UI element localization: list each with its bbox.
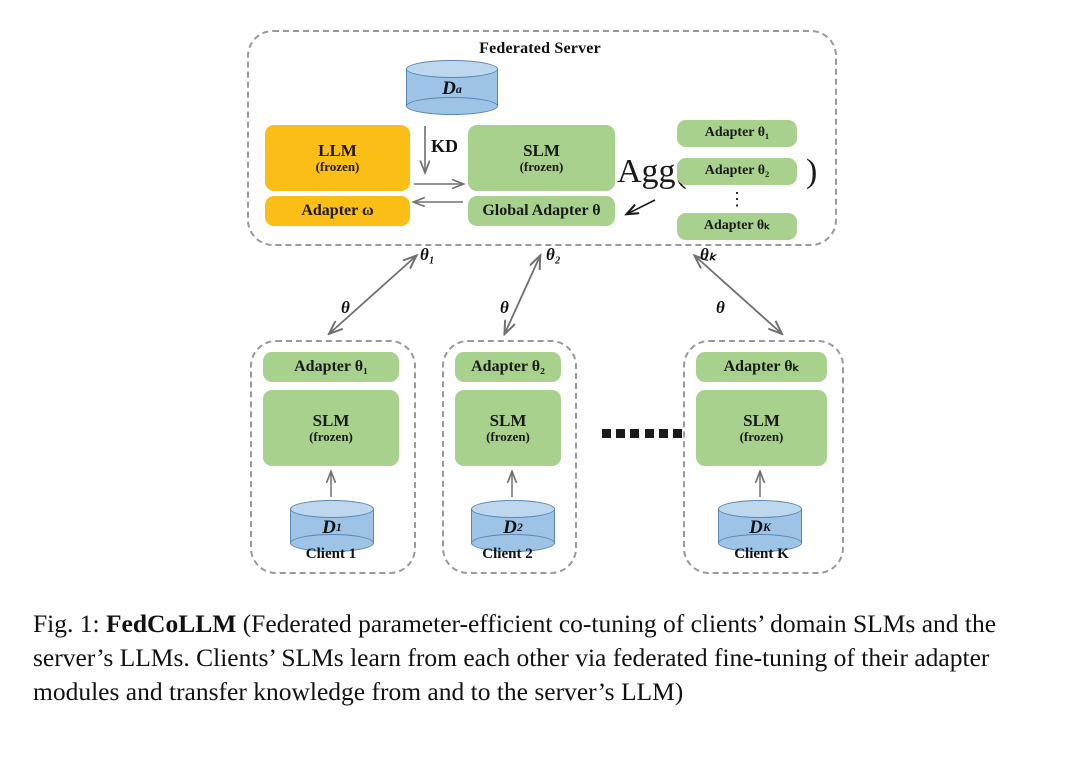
server-clientk-arrow xyxy=(695,256,781,333)
client-2-slm-subtitle: (frozen) xyxy=(486,430,530,445)
server-client2-arrow xyxy=(505,256,540,333)
server-llm-title: LLM xyxy=(316,141,360,161)
caption-prefix: Fig. 1: xyxy=(33,609,106,638)
server-dataset-cylinder: D a xyxy=(406,60,498,115)
server-slm-block[interactable]: SLM (frozen) xyxy=(468,125,615,191)
ellipsis-dot xyxy=(673,429,682,438)
client-k-slm-title: SLM xyxy=(740,411,784,431)
server-slm-title: SLM xyxy=(520,141,564,161)
download-label-theta-client1: θ xyxy=(341,298,350,318)
client-k-slm-subtitle: (frozen) xyxy=(740,430,784,445)
upload-label-theta2: θ₂ xyxy=(546,245,561,265)
server-client1-arrow xyxy=(330,256,416,333)
upload-label-theta1: θ₁ xyxy=(420,245,435,265)
download-label-theta-client2: θ xyxy=(500,298,509,318)
server-dataset-superscript: a xyxy=(456,82,462,97)
clients-ellipsis xyxy=(602,425,682,441)
server-global-adapter-block[interactable]: Global Adapter θ xyxy=(468,196,615,226)
ellipsis-dot xyxy=(630,429,639,438)
upload-label-thetak: θₖ xyxy=(700,245,716,265)
client-k-slm-block[interactable]: SLM (frozen) xyxy=(696,390,827,466)
client-k-dataset-label: D K xyxy=(718,500,802,552)
client-1-dataset-symbol: D xyxy=(322,517,336,539)
caption-bold-term: FedCoLLM xyxy=(106,609,236,638)
client-2-dataset-superscript: 2 xyxy=(517,520,523,535)
client-1-dataset-superscript: 1 xyxy=(336,520,342,535)
ellipsis-dot xyxy=(616,429,625,438)
federated-server-title: Federated Server xyxy=(247,38,833,60)
client-k-dataset-superscript: K xyxy=(763,520,771,535)
server-dataset-label: D a xyxy=(406,60,498,115)
server-slm-subtitle: (frozen) xyxy=(520,160,564,175)
server-dataset-symbol: D xyxy=(442,78,456,100)
kd-label: KD xyxy=(431,136,458,157)
client-2-dataset-label: D 2 xyxy=(471,500,555,552)
agg-close-paren: ) xyxy=(806,155,817,189)
download-label-theta-clientk: θ xyxy=(716,298,725,318)
ellipsis-dot xyxy=(645,429,654,438)
ellipsis-dot xyxy=(602,429,611,438)
agg-adapter-theta2[interactable]: Adapter θ₂ xyxy=(677,158,797,185)
client-1-dataset-cylinder: D 1 xyxy=(290,500,374,552)
figure-caption: Fig. 1: FedCoLLM (Federated parameter-ef… xyxy=(33,607,1049,709)
client-1-slm-subtitle: (frozen) xyxy=(309,430,353,445)
client-2-adapter-block[interactable]: Adapter θ₂ xyxy=(455,352,561,382)
client-k-dataset-symbol: D xyxy=(749,517,763,539)
client-2-slm-title: SLM xyxy=(486,411,530,431)
client-1-slm-title: SLM xyxy=(309,411,353,431)
client-2-dataset-cylinder: D 2 xyxy=(471,500,555,552)
server-llm-subtitle: (frozen) xyxy=(316,160,360,175)
client-k-dataset-cylinder: D K xyxy=(718,500,802,552)
agg-adapter-theta1[interactable]: Adapter θ₁ xyxy=(677,120,797,147)
agg-vertical-dots: ⋮ xyxy=(729,188,745,210)
server-adapter-omega-block[interactable]: Adapter ω xyxy=(265,196,410,226)
client-1-slm-block[interactable]: SLM (frozen) xyxy=(263,390,399,466)
client-2-slm-block[interactable]: SLM (frozen) xyxy=(455,390,561,466)
client-1-adapter-block[interactable]: Adapter θ₁ xyxy=(263,352,399,382)
agg-adapter-thetak[interactable]: Adapter θₖ xyxy=(677,213,797,240)
client-1-dataset-label: D 1 xyxy=(290,500,374,552)
server-llm-block[interactable]: LLM (frozen) xyxy=(265,125,410,191)
client-2-dataset-symbol: D xyxy=(503,517,517,539)
client-k-adapter-block[interactable]: Adapter θₖ xyxy=(696,352,827,382)
ellipsis-dot xyxy=(659,429,668,438)
